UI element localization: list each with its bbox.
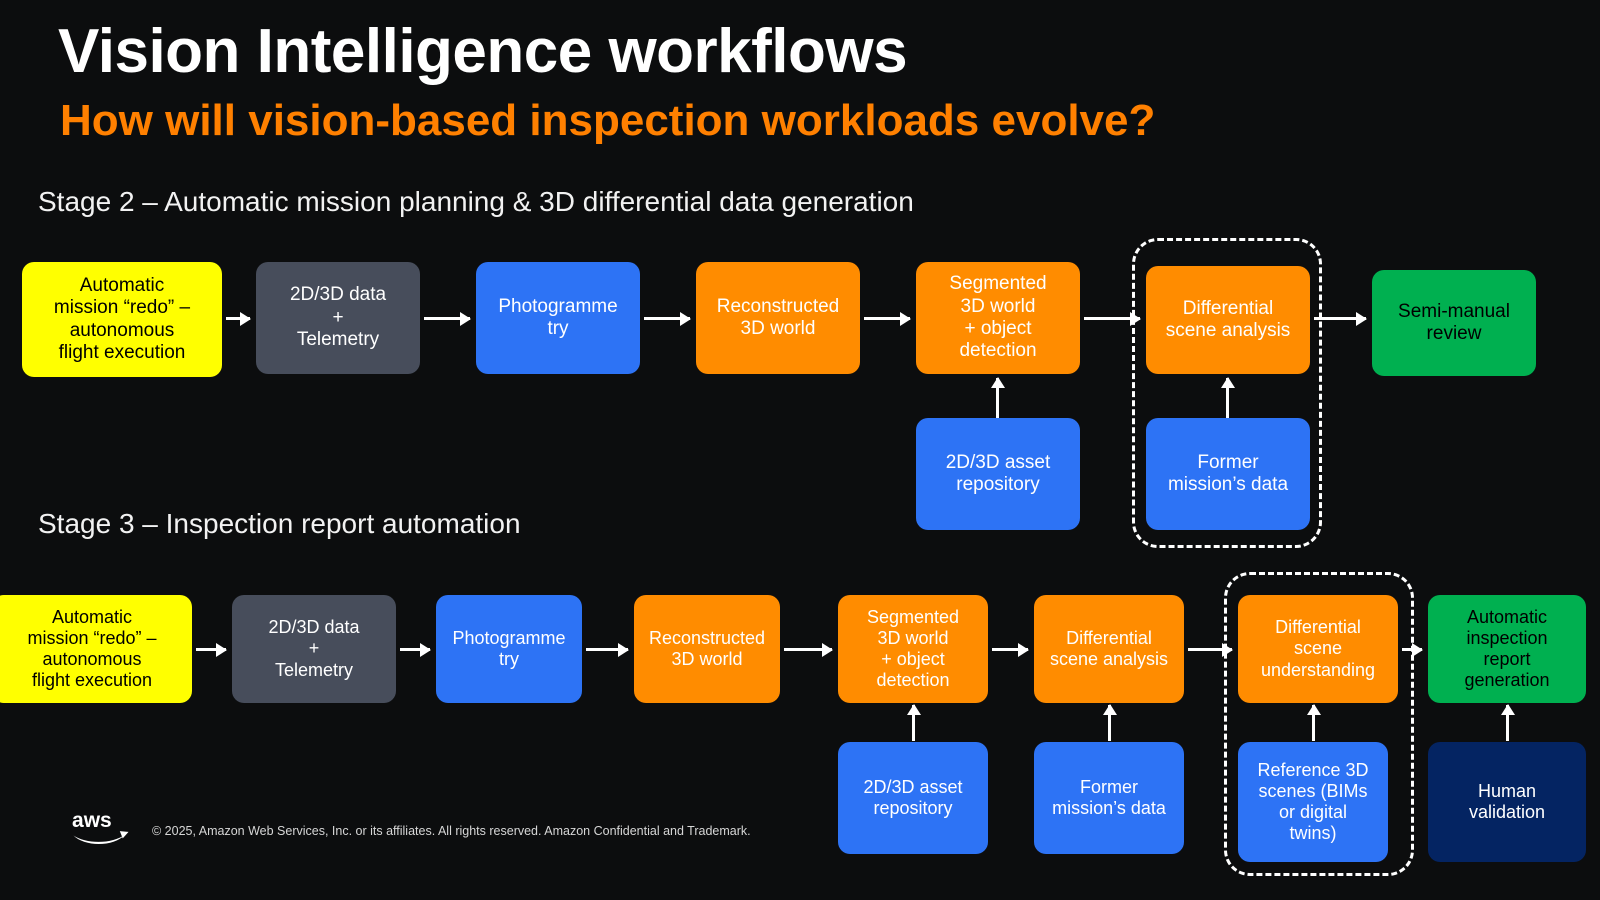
arrow-s3-1	[196, 648, 226, 651]
arrow-s2-repo-up	[996, 378, 999, 418]
node-s2-reconstructed[interactable]: Reconstructed 3D world	[696, 262, 860, 374]
arrow-s3-5	[992, 648, 1028, 651]
node-s3-reference-3d[interactable]: Reference 3D scenes (BIMs or digital twi…	[1238, 742, 1388, 862]
arrow-s2-4	[864, 317, 910, 320]
arrow-s3-human-up	[1506, 705, 1509, 741]
node-s3-diff-understanding[interactable]: Differential scene understanding	[1238, 595, 1398, 703]
stage-3-heading: Stage 3 – Inspection report automation	[38, 508, 521, 540]
node-s3-human-validation[interactable]: Human validation	[1428, 742, 1586, 862]
node-s3-photogrammetry[interactable]: Photogramme try	[436, 595, 582, 703]
aws-logo: aws	[72, 808, 130, 850]
node-s2-photogrammetry[interactable]: Photogramme try	[476, 262, 640, 374]
arrow-s2-2	[424, 317, 470, 320]
node-s3-auto-report[interactable]: Automatic inspection report generation	[1428, 595, 1586, 703]
arrow-s3-2	[400, 648, 430, 651]
svg-text:aws: aws	[72, 809, 112, 832]
node-s2-diff-analysis[interactable]: Differential scene analysis	[1146, 266, 1310, 374]
node-s2-former-mission[interactable]: Former mission’s data	[1146, 418, 1310, 530]
node-s2-data-telemetry[interactable]: 2D/3D data + Telemetry	[256, 262, 420, 374]
node-s3-asset-repo[interactable]: 2D/3D asset repository	[838, 742, 988, 854]
arrow-s2-1	[226, 317, 250, 320]
page-title: Vision Intelligence workflows	[58, 16, 907, 87]
node-s3-auto-mission[interactable]: Automatic mission “redo” – autonomous fl…	[0, 595, 192, 703]
slide-canvas: Vision Intelligence workflows How will v…	[0, 0, 1600, 900]
node-s2-segmented[interactable]: Segmented 3D world + object detection	[916, 262, 1080, 374]
node-s2-asset-repo[interactable]: 2D/3D asset repository	[916, 418, 1080, 530]
arrow-s2-5	[1084, 317, 1140, 320]
arrow-s3-4	[784, 648, 832, 651]
page-subtitle: How will vision-based inspection workloa…	[60, 96, 1155, 146]
arrow-s3-reference-up	[1312, 705, 1315, 741]
node-s3-diff-analysis[interactable]: Differential scene analysis	[1034, 595, 1184, 703]
arrow-s3-7	[1402, 648, 1422, 651]
arrow-s2-3	[644, 317, 690, 320]
node-s3-data-telemetry[interactable]: 2D/3D data + Telemetry	[232, 595, 396, 703]
arrow-s3-former-up	[1108, 705, 1111, 741]
arrow-s3-3	[586, 648, 628, 651]
arrow-s3-repo-up	[912, 705, 915, 741]
node-s3-reconstructed[interactable]: Reconstructed 3D world	[634, 595, 780, 703]
node-s3-former-mission[interactable]: Former mission’s data	[1034, 742, 1184, 854]
node-s3-segmented[interactable]: Segmented 3D world + object detection	[838, 595, 988, 703]
node-s2-semi-manual[interactable]: Semi-manual review	[1372, 270, 1536, 376]
arrow-s2-former-up	[1226, 378, 1229, 418]
arrow-s3-6	[1188, 648, 1232, 651]
stage-2-heading: Stage 2 – Automatic mission planning & 3…	[38, 186, 914, 218]
copyright-text: © 2025, Amazon Web Services, Inc. or its…	[152, 824, 751, 838]
node-s2-auto-mission[interactable]: Automatic mission “redo” – autonomous fl…	[22, 262, 222, 377]
arrow-s2-6	[1314, 317, 1366, 320]
